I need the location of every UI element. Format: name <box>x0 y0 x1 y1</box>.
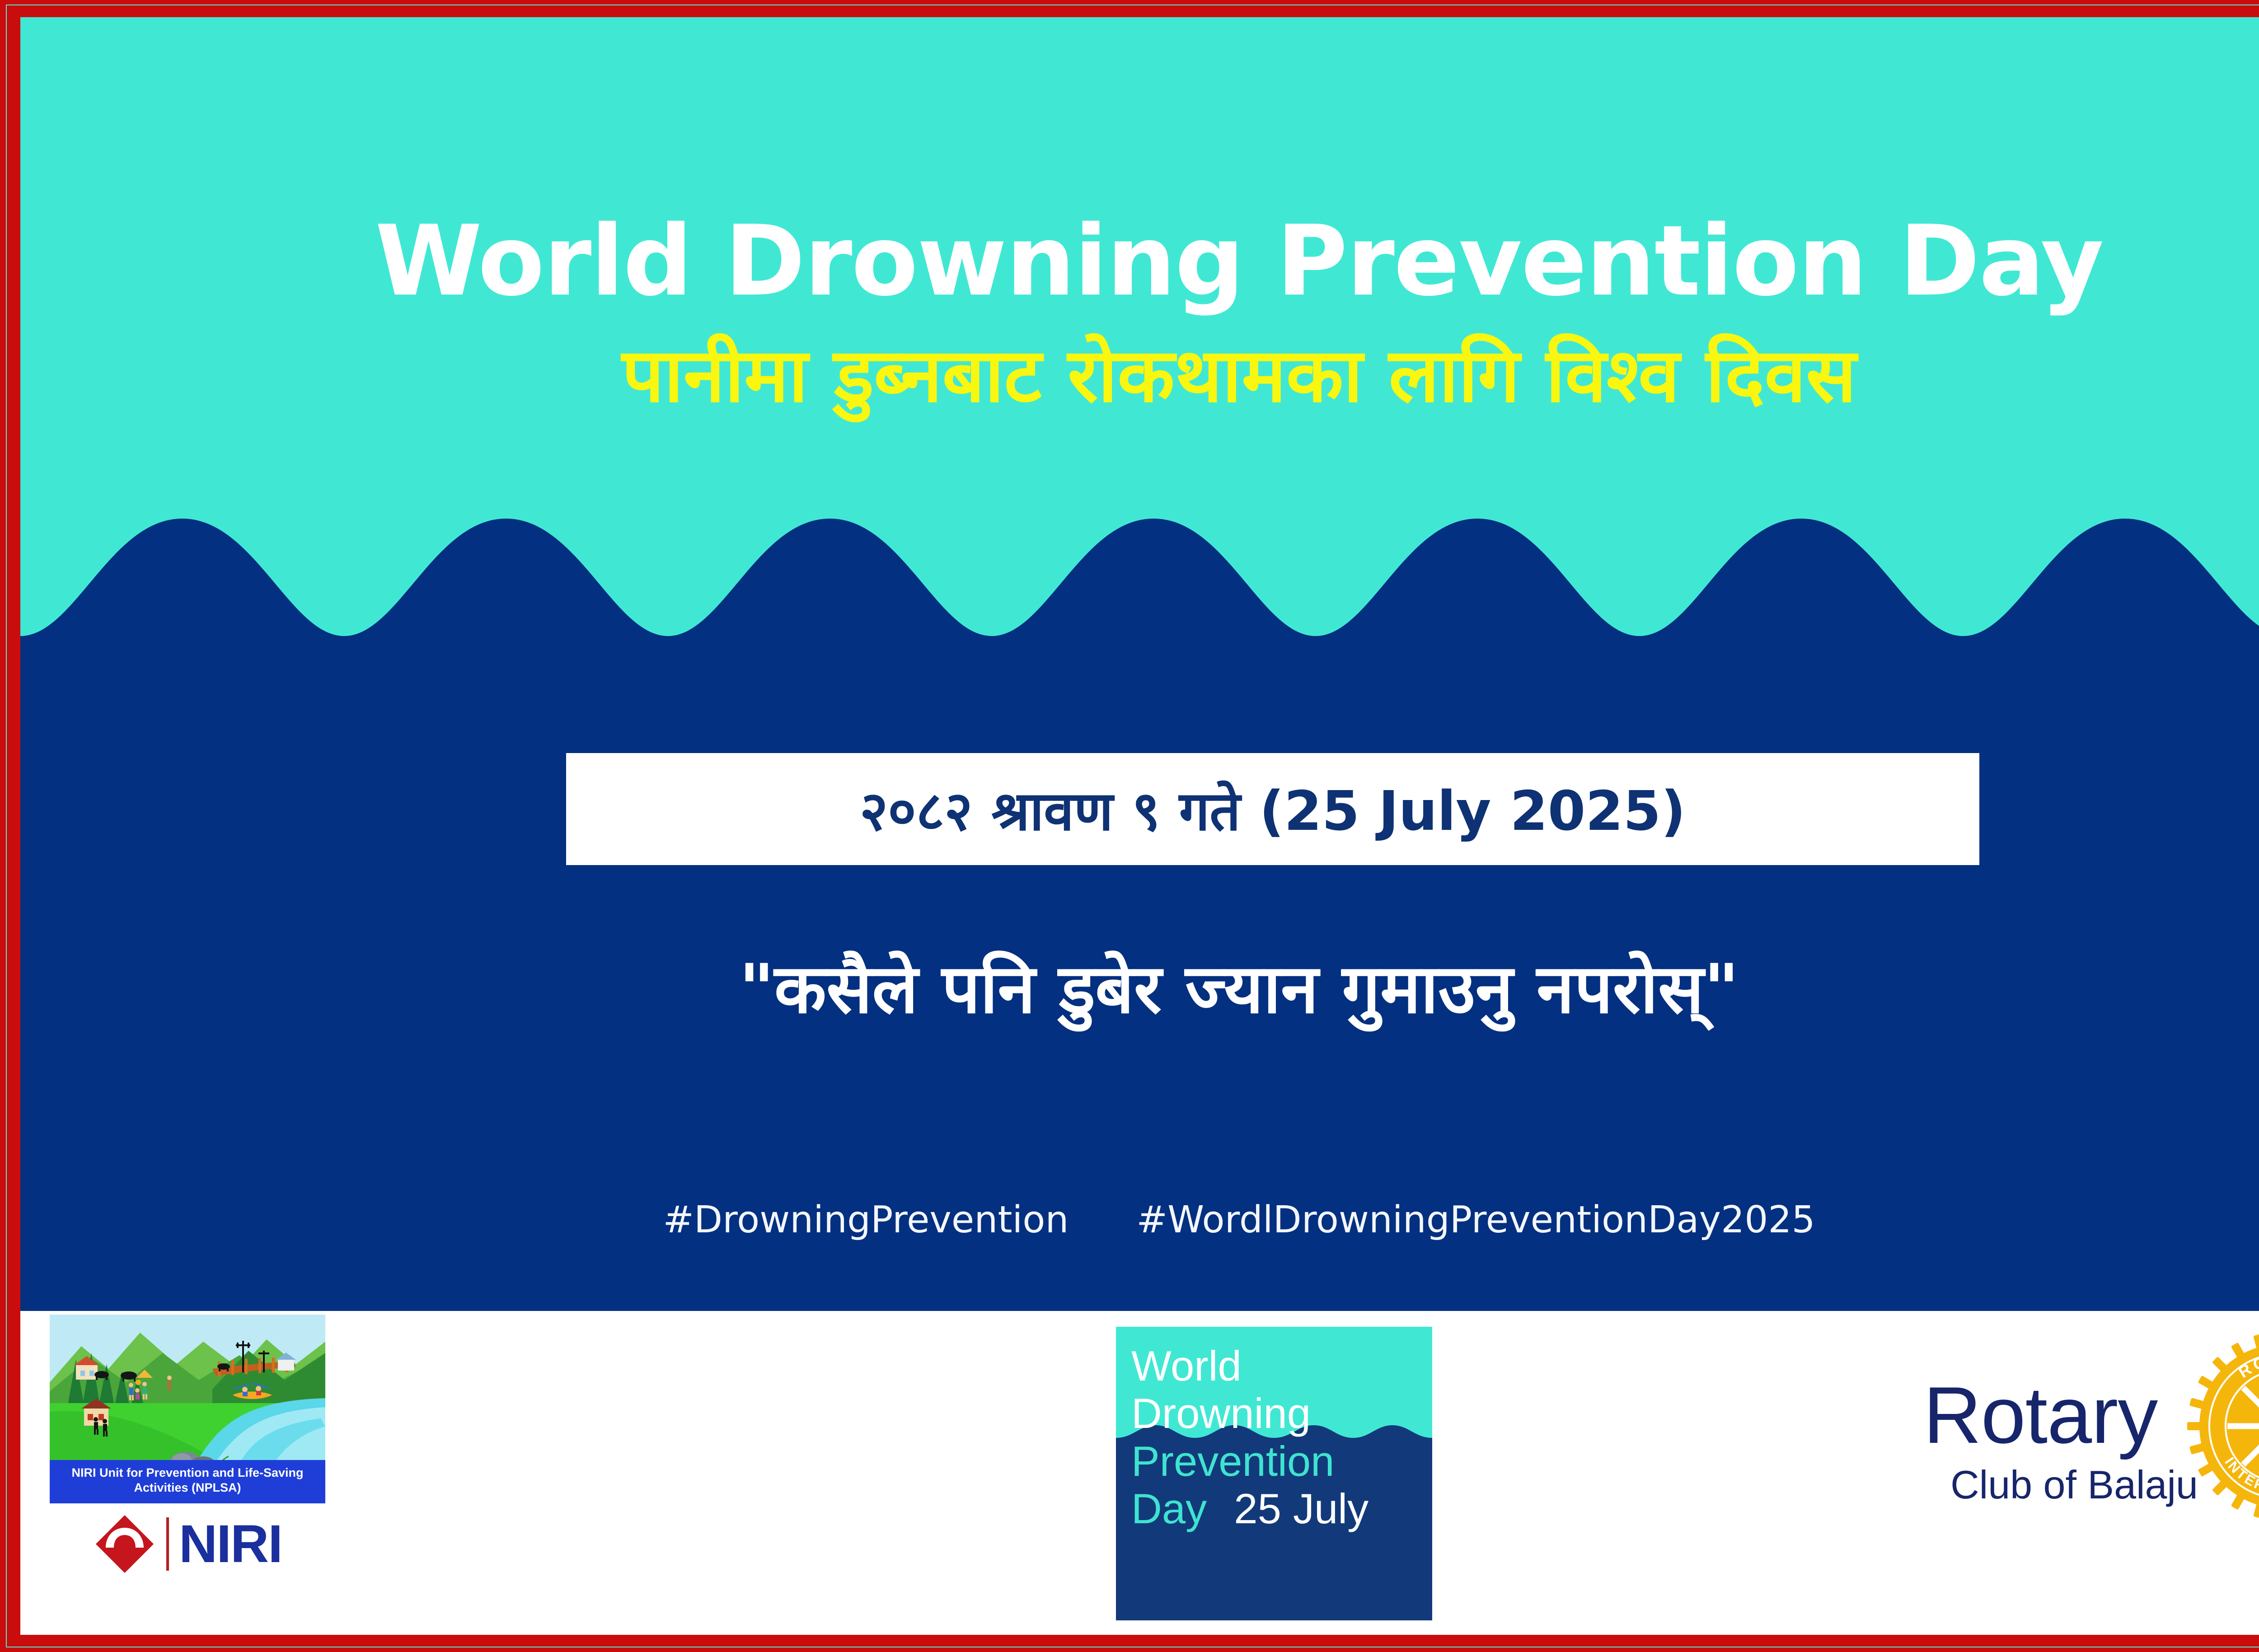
wdpd-logo-text: World Drowning Prevention Day 25 July <box>1131 1342 1428 1532</box>
poster-outer-border: World Drowning Prevention Day पानीमा डुब… <box>6 5 2259 1647</box>
nplsa-caption-line2: Activities (NPLSA) <box>50 1480 325 1495</box>
niri-logo-block: NIRI Unit for Prevention and Life-Saving… <box>34 1315 341 1626</box>
date-banner: २०८२ श्रावण ९ गते (25 July 2025) <box>566 753 1979 865</box>
rotary-wheel-icon: ROTARY INTERNATIONAL <box>2184 1329 2259 1523</box>
wdpd-line-prevention: Prevention <box>1131 1437 1428 1485</box>
poster-root: World Drowning Prevention Day पानीमा डुब… <box>0 0 2259 1652</box>
niri-wordmark: NIRI <box>179 1517 282 1571</box>
nplsa-illustration-card: NIRI Unit for Prevention and Life-Saving… <box>50 1315 325 1503</box>
nplsa-caption: NIRI Unit for Prevention and Life-Saving… <box>50 1460 325 1503</box>
wave-divider <box>20 501 2259 695</box>
page-title-english: World Drowning Prevention Day <box>20 211 2259 310</box>
hashtag-row: #DrowningPrevention#WordlDrowningPrevent… <box>20 1198 2259 1241</box>
rotary-name: Rotary <box>1923 1377 2198 1453</box>
wdpd-line-day-row: Day 25 July <box>1131 1485 1369 1532</box>
niri-diamond-icon <box>93 1512 156 1576</box>
page-title-nepali: पानीमा डुब्नबाट रोकथामका लागि विश्व दिवस <box>20 329 2259 422</box>
world-drowning-prevention-day-logo: World Drowning Prevention Day 25 July <box>1116 1327 1432 1620</box>
hashtag-world-drowning-prevention-day-2025: #WordlDrowningPreventionDay2025 <box>1136 1198 1815 1241</box>
date-text: २०८२ श्रावण ९ गते (25 July 2025) <box>860 772 1686 846</box>
rotary-club-name: Club of Balaju <box>1950 1463 2198 1507</box>
poster-content-area: World Drowning Prevention Day पानीमा डुब… <box>20 17 2259 1635</box>
wdpd-line-drowning: Drowning <box>1131 1390 1428 1437</box>
hashtag-drowning-prevention: #DrowningPrevention <box>663 1198 1069 1241</box>
rotary-wordmark-block: Rotary Club of Balaju <box>1923 1377 2198 1507</box>
nplsa-caption-line1: NIRI Unit for Prevention and Life-Saving <box>50 1465 325 1480</box>
slogan-text: "कसैले पनि डुबेर ज्यान गुमाउनु नपरोस्" <box>20 945 2259 1034</box>
wdpd-line-world: World <box>1131 1342 1428 1390</box>
wdpd-line-date: 25 July <box>1234 1485 1369 1532</box>
footer-logo-bar: NIRI Unit for Prevention and Life-Saving… <box>20 1311 2259 1635</box>
niri-divider <box>166 1517 169 1571</box>
niri-wordmark-row: NIRI <box>93 1512 282 1576</box>
wdpd-line-day: Day <box>1131 1485 1207 1532</box>
rotary-club-of-balaju-logo: Rotary Club of Balaju <box>1923 1361 2259 1523</box>
